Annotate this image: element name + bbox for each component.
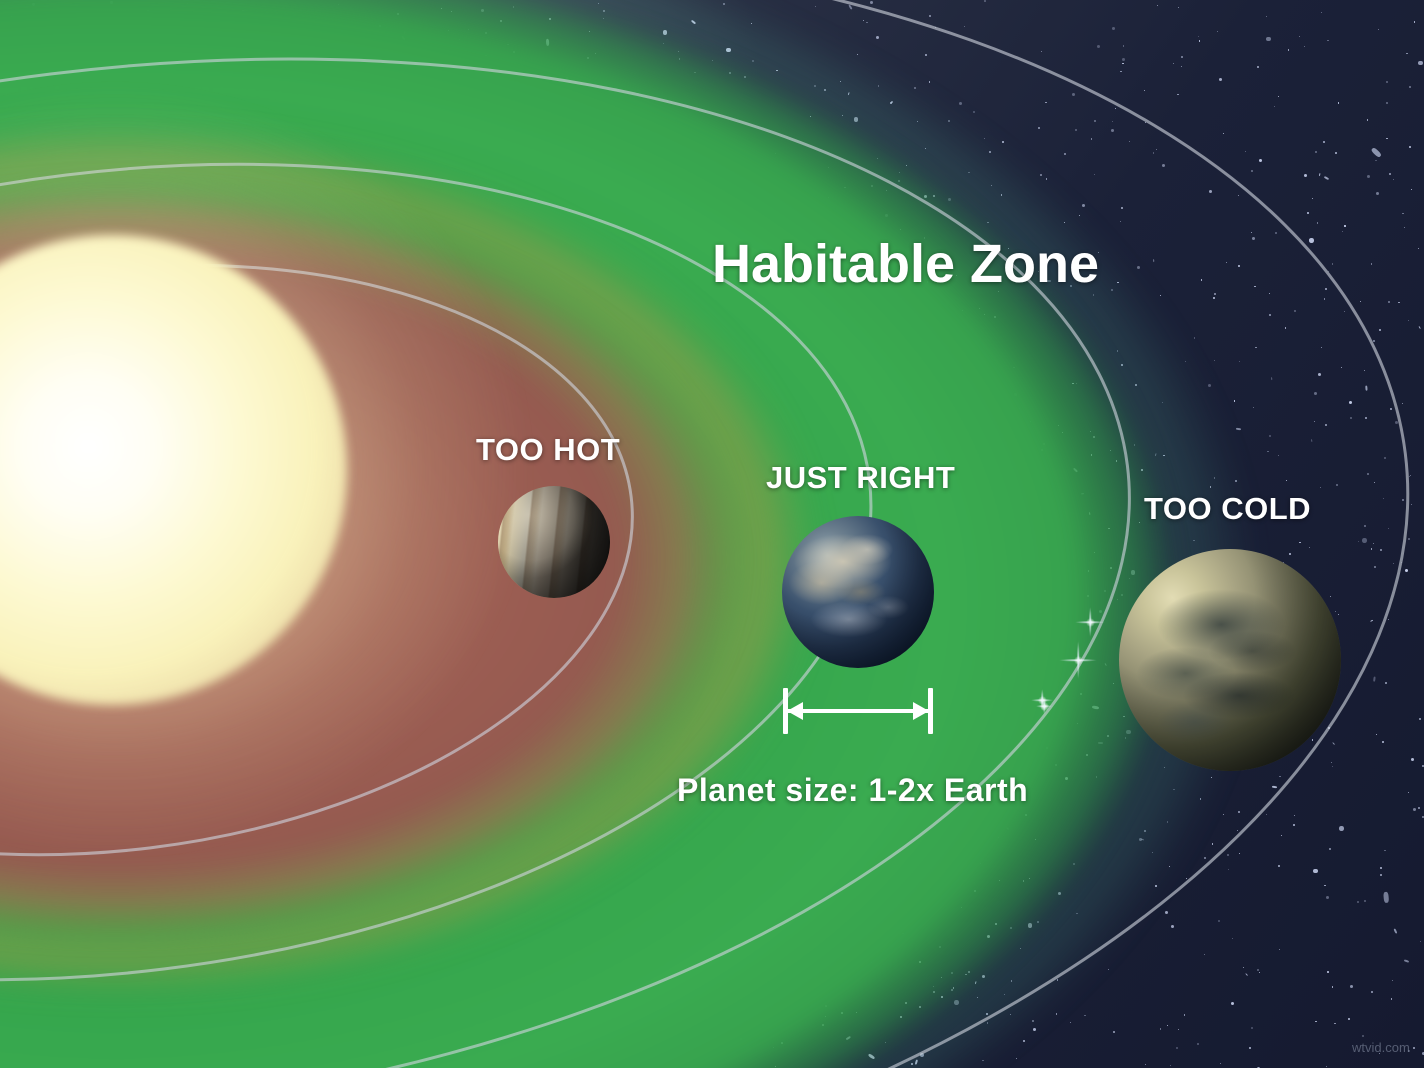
arrow-right-icon xyxy=(913,702,929,720)
planet-terminator-shadow xyxy=(782,516,934,668)
measure-bar xyxy=(787,709,929,713)
too-cold-zone-label: TOO COLD xyxy=(1144,491,1311,527)
too-hot-planet xyxy=(498,486,610,598)
sparkle-icon xyxy=(1036,698,1052,714)
planet-size-caption: Planet size: 1-2x Earth xyxy=(677,772,1028,809)
habitable-zone-diagram: Habitable Zone TOO HOT JUST RIGHT TOO CO… xyxy=(0,0,1424,1068)
too-hot-zone-label: TOO HOT xyxy=(476,432,620,468)
arrow-left-icon xyxy=(787,702,803,720)
planet-size-measure-arrow xyxy=(783,688,933,734)
watermark: wtvid.com xyxy=(1352,1040,1410,1055)
planet-terminator-shadow xyxy=(498,486,610,598)
just-right-zone-label: JUST RIGHT xyxy=(766,460,955,496)
too-cold-planet xyxy=(1119,549,1341,771)
sparkle-icon xyxy=(1059,641,1097,679)
just-right-planet xyxy=(782,516,934,668)
planet-terminator-shadow xyxy=(1119,549,1341,771)
page-title: Habitable Zone xyxy=(712,233,1099,295)
sparkle-icon xyxy=(1075,607,1105,637)
